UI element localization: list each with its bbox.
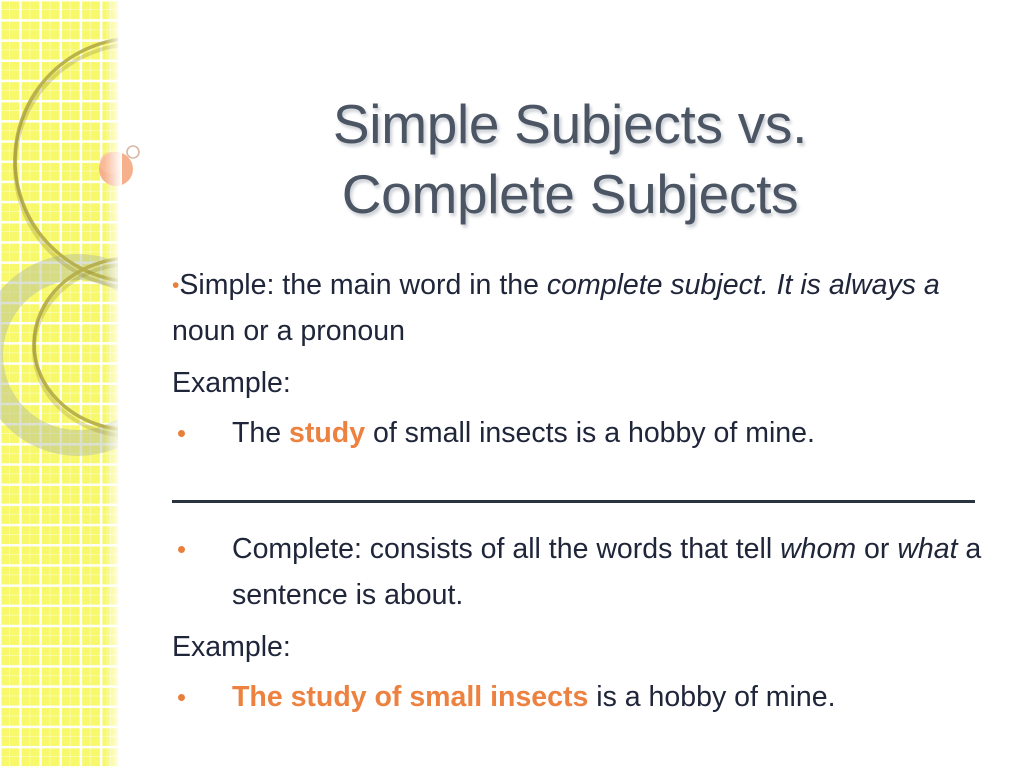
example-label-1: Example: [172, 360, 984, 406]
olive-arc-small-shadow [34, 264, 160, 436]
example-2-highlight: The study of small insects [232, 681, 588, 713]
list-item: The study of small insects is a hobby of… [172, 410, 984, 456]
olive-arc-large-shadow [15, 44, 160, 288]
simple-definition-italic: complete subject. It is always a [547, 269, 940, 301]
sidebar-decoration-svg [0, 0, 160, 768]
example-2-post: is a hobby of mine. [588, 681, 835, 713]
small-ring-outline [127, 146, 139, 158]
simple-definition-part1: Simple: the main word in the [179, 269, 547, 301]
example-1-pre: The [232, 417, 289, 449]
list-item: Complete: consists of all the words that… [172, 526, 984, 618]
content-lower: Complete: consists of all the words that… [172, 522, 984, 721]
title-line-2: Complete Subjects [150, 159, 990, 229]
section-divider [172, 500, 975, 503]
complete-definition-mid: or [856, 533, 897, 565]
content-upper: •Simple: the main word in the complete s… [172, 262, 984, 457]
complete-definition-italic-2: what [897, 533, 957, 565]
example-label-2: Example: [172, 624, 984, 670]
page-title: Simple Subjects vs. Complete Subjects [150, 89, 990, 230]
bullet-dot-icon [178, 694, 185, 701]
decorative-sidebar [0, 0, 118, 768]
slide-canvas: Simple Subjects vs. Complete Subjects •S… [0, 0, 1024, 768]
complete-definition-italic-1: whom [780, 533, 856, 565]
bullet-dot-icon [178, 430, 185, 437]
example-1-highlight: study [289, 417, 365, 449]
simple-definition: •Simple: the main word in the complete s… [172, 262, 984, 354]
example-1-post: of small insects is a hobby of mine. [365, 417, 815, 449]
sidebar-edge-fade [104, 0, 122, 768]
bullet-dot-icon [178, 546, 185, 553]
olive-arc-large [15, 38, 160, 282]
list-item: The study of small insects is a hobby of… [172, 674, 984, 720]
simple-definition-part2: noun or a pronoun [172, 315, 405, 347]
complete-definition-pre: Complete: consists of all the words that… [232, 533, 780, 565]
title-line-1: Simple Subjects vs. [150, 89, 990, 159]
